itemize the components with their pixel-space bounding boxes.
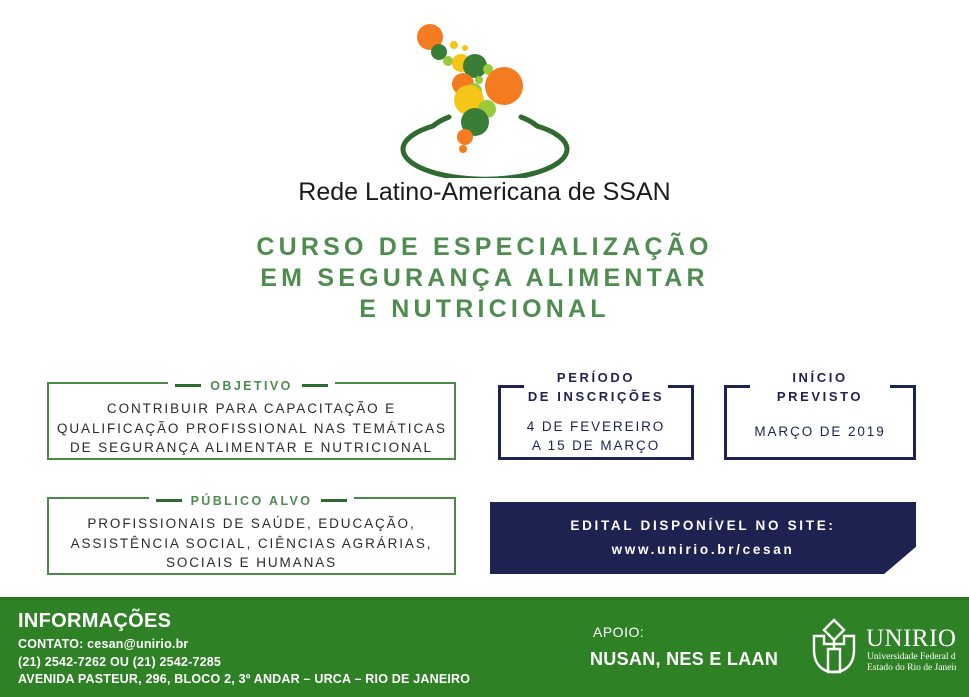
rule-left-icon [175, 384, 201, 387]
periodo-date-start: 4 DE FEVEREIRO [501, 417, 691, 436]
informacoes-block: INFORMAÇÕES CONTATO: cesan@unirio.br (21… [18, 610, 470, 689]
inicio-date: MARÇO DE 2019 [727, 422, 913, 441]
edital-url[interactable]: www.unirio.br/cesan [490, 542, 916, 557]
unirio-monogram-icon [814, 620, 854, 672]
unirio-wordmark: UNIRIO [866, 625, 956, 652]
informacoes-telefones: (21) 2542-7262 OU (21) 2542-7285 [18, 654, 470, 672]
periodo-heading: PERÍODO DE INSCRIÇÕES [501, 368, 691, 406]
publico-alvo-label-text: PÚBLICO ALVO [191, 494, 313, 508]
objetivo-body: CONTRIBUIR PARA CAPACITAÇÃO E QUALIFICAÇ… [49, 384, 454, 458]
rule-left-icon [156, 499, 182, 502]
inicio-previsto-box: INÍCIO PREVISTO MARÇO DE 2019 [724, 388, 916, 460]
periodo-date-end: A 15 DE MARÇO [501, 436, 691, 455]
rule-right-icon [302, 384, 328, 387]
unirio-logo: UNIRIO Universidade Federal do Estado do… [806, 616, 956, 680]
inicio-heading-line-2: PREVISTO [777, 389, 863, 404]
edital-content: EDITAL DISPONÍVEL NO SITE: www.unirio.br… [490, 518, 916, 557]
edital-title: EDITAL DISPONÍVEL NO SITE: [490, 518, 916, 533]
periodo-heading-line-1: PERÍODO [557, 370, 635, 385]
title-line-1: CURSO DE ESPECIALIZAÇÃO [0, 232, 969, 263]
periodo-heading-line-2: DE INSCRIÇÕES [528, 389, 664, 404]
unirio-subtitle-line-2: Estado do Rio de Janeiro [867, 663, 956, 673]
objetivo-box: OBJETIVO CONTRIBUIR PARA CAPACITAÇÃO E Q… [47, 382, 456, 460]
periodo-inscricoes-box: PERÍODO DE INSCRIÇÕES 4 DE FEVEREIRO A 1… [498, 388, 694, 460]
objetivo-label: OBJETIVO [49, 374, 454, 393]
poster-canvas: Rede Latino-Americana de SSAN CURSO DE E… [0, 0, 969, 697]
publico-alvo-line-2: ASSISTÊNCIA SOCIAL, CIÊNCIAS AGRÁRIAS, [57, 534, 446, 554]
brand-name: Rede Latino-Americana de SSAN [0, 178, 969, 207]
informacoes-contato[interactable]: CONTATO: cesan@unirio.br [18, 636, 470, 654]
publico-alvo-line-1: PROFISSIONAIS DE SAÚDE, EDUCAÇÃO, [57, 514, 446, 534]
apoio-value: NUSAN, NES E LAAN [590, 649, 778, 670]
unirio-subtitle-line-1: Universidade Federal do [867, 652, 956, 662]
title-line-2: EM SEGURANÇA ALIMENTAR [0, 263, 969, 294]
objetivo-line-2: QUALIFICAÇÃO PROFISSIONAL NAS TEMÁTICAS [57, 419, 446, 439]
rule-right-icon [321, 499, 347, 502]
brand-logo [0, 18, 969, 178]
objetivo-line-3: DE SEGURANÇA ALIMENTAR E NUTRICIONAL [57, 438, 446, 458]
inicio-heading-line-1: INÍCIO [792, 370, 847, 385]
publico-alvo-body: PROFISSIONAIS DE SAÚDE, EDUCAÇÃO, ASSIST… [49, 499, 454, 573]
apoio-label: APOIO: [593, 624, 778, 640]
informacoes-heading: INFORMAÇÕES [18, 610, 470, 633]
objetivo-label-text: OBJETIVO [210, 379, 292, 393]
title-line-3: E NUTRICIONAL [0, 294, 969, 325]
inicio-heading: INÍCIO PREVISTO [727, 368, 913, 406]
page-title: CURSO DE ESPECIALIZAÇÃO EM SEGURANÇA ALI… [0, 232, 969, 325]
apoio-block: APOIO: NUSAN, NES E LAAN [590, 624, 778, 670]
publico-alvo-label: PÚBLICO ALVO [49, 489, 454, 508]
ssan-network-circles-logo [375, 18, 595, 178]
publico-alvo-box: PÚBLICO ALVO PROFISSIONAIS DE SAÚDE, EDU… [47, 497, 456, 575]
publico-alvo-line-3: SOCIAIS E HUMANAS [57, 553, 446, 573]
edital-banner[interactable]: EDITAL DISPONÍVEL NO SITE: www.unirio.br… [490, 502, 916, 574]
objetivo-line-1: CONTRIBUIR PARA CAPACITAÇÃO E [57, 399, 446, 419]
informacoes-endereco: AVENIDA PASTEUR, 296, BLOCO 2, 3º ANDAR … [18, 671, 470, 689]
